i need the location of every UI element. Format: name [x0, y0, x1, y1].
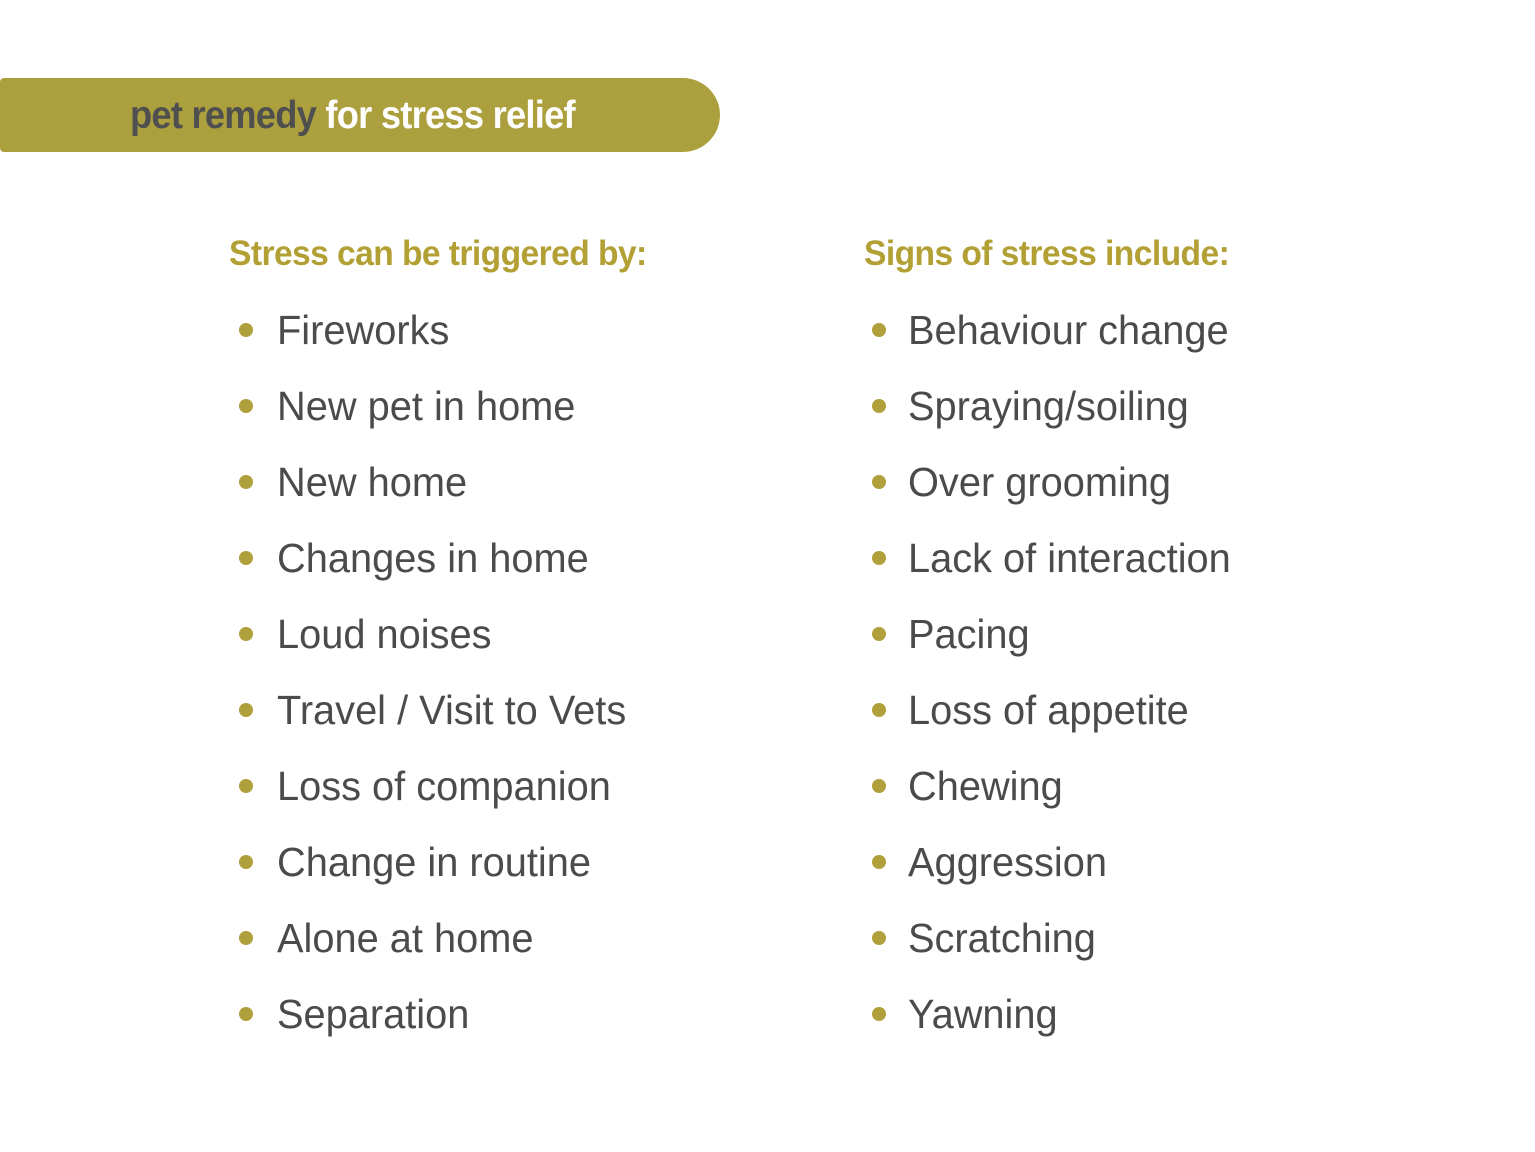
list-item: Behaviour change — [864, 292, 1484, 368]
list-item-label: Separation — [277, 994, 469, 1035]
bullet-dot-icon — [239, 703, 253, 717]
list-stress-signs: Behaviour change Spraying/soiling Over g… — [864, 292, 1484, 1052]
list-item-label: Scratching — [908, 918, 1096, 959]
list-item: Loss of companion — [229, 748, 849, 824]
bullet-dot-icon — [872, 855, 886, 869]
bullet-dot-icon — [872, 551, 886, 565]
bullet-dot-icon — [239, 1007, 253, 1021]
list-item: Spraying/soiling — [864, 368, 1484, 444]
list-item-label: Loss of companion — [277, 766, 611, 807]
bullet-dot-icon — [872, 931, 886, 945]
bullet-dot-icon — [872, 323, 886, 337]
list-item: New home — [229, 444, 849, 520]
list-item: Loud noises — [229, 596, 849, 672]
list-item: Separation — [229, 976, 849, 1052]
bullet-dot-icon — [239, 399, 253, 413]
bullet-dot-icon — [872, 627, 886, 641]
list-item-label: Over grooming — [908, 462, 1171, 503]
bullet-dot-icon — [239, 323, 253, 337]
banner-brand-name: pet remedy — [130, 94, 316, 137]
list-item-label: Loud noises — [277, 614, 491, 655]
column-stress-triggers: Stress can be triggered by: Fireworks Ne… — [229, 236, 849, 1052]
banner-tagline: for stress relief — [316, 94, 575, 137]
list-item: Scratching — [864, 900, 1484, 976]
list-item-label: Pacing — [908, 614, 1030, 655]
list-item-label: Chewing — [908, 766, 1063, 807]
brand-banner: pet remedy for stress relief — [0, 78, 720, 152]
list-item: Change in routine — [229, 824, 849, 900]
list-item-label: Behaviour change — [908, 310, 1229, 351]
list-item: Alone at home — [229, 900, 849, 976]
column-stress-signs: Signs of stress include: Behaviour chang… — [864, 236, 1484, 1052]
list-item: Yawning — [864, 976, 1484, 1052]
bullet-dot-icon — [872, 1007, 886, 1021]
list-item-label: New pet in home — [277, 386, 575, 427]
list-item: Loss of appetite — [864, 672, 1484, 748]
bullet-dot-icon — [872, 399, 886, 413]
list-item-label: Aggression — [908, 842, 1107, 883]
list-item: Aggression — [864, 824, 1484, 900]
list-item-label: Alone at home — [277, 918, 533, 959]
list-item-label: Travel / Visit to Vets — [277, 690, 626, 731]
list-item: Pacing — [864, 596, 1484, 672]
bullet-dot-icon — [239, 855, 253, 869]
list-stress-triggers: Fireworks New pet in home New home Chang… — [229, 292, 849, 1052]
list-item: Lack of interaction — [864, 520, 1484, 596]
list-item-label: Spraying/soiling — [908, 386, 1189, 427]
list-item: Changes in home — [229, 520, 849, 596]
heading-stress-signs: Signs of stress include: — [864, 236, 1459, 292]
list-item: Chewing — [864, 748, 1484, 824]
bullet-dot-icon — [239, 627, 253, 641]
list-item: Travel / Visit to Vets — [229, 672, 849, 748]
bullet-dot-icon — [872, 703, 886, 717]
list-item: Fireworks — [229, 292, 849, 368]
bullet-dot-icon — [239, 931, 253, 945]
list-item-label: Fireworks — [277, 310, 449, 351]
banner-title: pet remedy for stress relief — [130, 96, 575, 135]
bullet-dot-icon — [872, 475, 886, 489]
bullet-dot-icon — [239, 779, 253, 793]
list-item: New pet in home — [229, 368, 849, 444]
list-item-label: Changes in home — [277, 538, 589, 579]
heading-stress-triggers: Stress can be triggered by: — [229, 236, 824, 292]
list-item-label: Lack of interaction — [908, 538, 1231, 579]
bullet-dot-icon — [239, 475, 253, 489]
bullet-dot-icon — [872, 779, 886, 793]
bullet-dot-icon — [239, 551, 253, 565]
list-item-label: Loss of appetite — [908, 690, 1189, 731]
list-item: Over grooming — [864, 444, 1484, 520]
list-item-label: Yawning — [908, 994, 1058, 1035]
list-item-label: New home — [277, 462, 467, 503]
list-item-label: Change in routine — [277, 842, 591, 883]
